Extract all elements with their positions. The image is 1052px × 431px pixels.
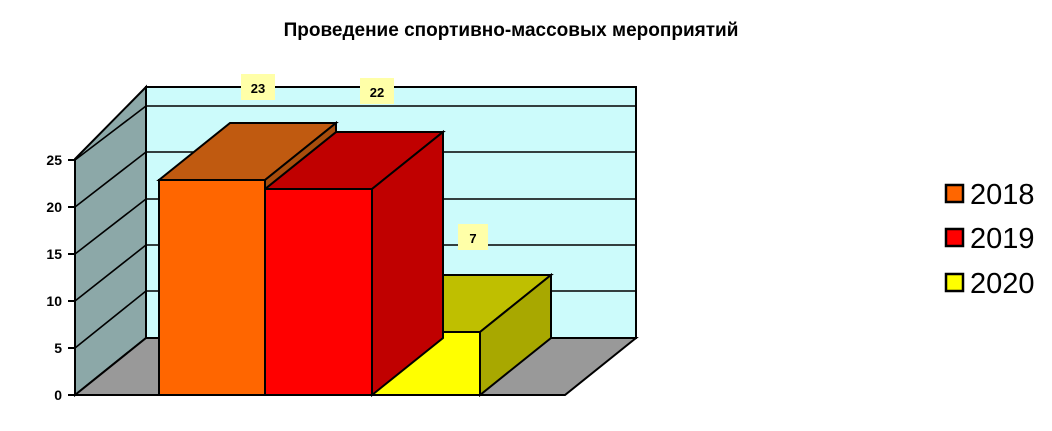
legend-item-2019[interactable]: 2019 [946, 223, 1035, 255]
y-tick-label-10: 10 [46, 293, 62, 309]
legend-label-2020: 2020 [970, 268, 1035, 300]
y-tick-label-25: 25 [46, 152, 62, 168]
bar-chart-3d: Проведение спортивно-массовых мероприяти… [0, 0, 1052, 431]
data-label-2018-text: 23 [251, 81, 265, 96]
legend-label-2018: 2018 [970, 179, 1035, 211]
chart-title: Проведение спортивно-массовых мероприяти… [284, 20, 739, 41]
y-tick-label-20: 20 [46, 199, 62, 215]
data-label-2019-text: 22 [370, 85, 384, 100]
chart-legend: 2018 2019 2020 [946, 179, 1035, 300]
data-label-2020: 7 [458, 224, 488, 250]
legend-swatch-2018 [946, 185, 963, 202]
chart-container: Проведение спортивно-массовых мероприяти… [0, 0, 1052, 431]
legend-item-2020[interactable]: 2020 [946, 268, 1035, 300]
legend-swatch-2019 [946, 229, 963, 246]
legend-label-2019: 2019 [970, 223, 1035, 255]
data-label-2018: 23 [241, 74, 275, 100]
bar-2019[interactable] [265, 132, 443, 395]
legend-item-2018[interactable]: 2018 [946, 179, 1035, 211]
y-tick-label-0: 0 [54, 387, 62, 403]
legend-swatch-2020 [946, 274, 963, 291]
y-tick-label-15: 15 [46, 246, 62, 262]
bar-2019-front [265, 189, 372, 395]
bar-2018-front [159, 180, 265, 395]
y-tick-label-5: 5 [54, 340, 62, 356]
data-label-2020-text: 7 [469, 231, 476, 246]
y-axis-ticks [68, 160, 75, 395]
data-label-2019: 22 [360, 78, 394, 104]
y-axis-tick-labels: 0 5 10 15 20 25 [46, 152, 62, 403]
